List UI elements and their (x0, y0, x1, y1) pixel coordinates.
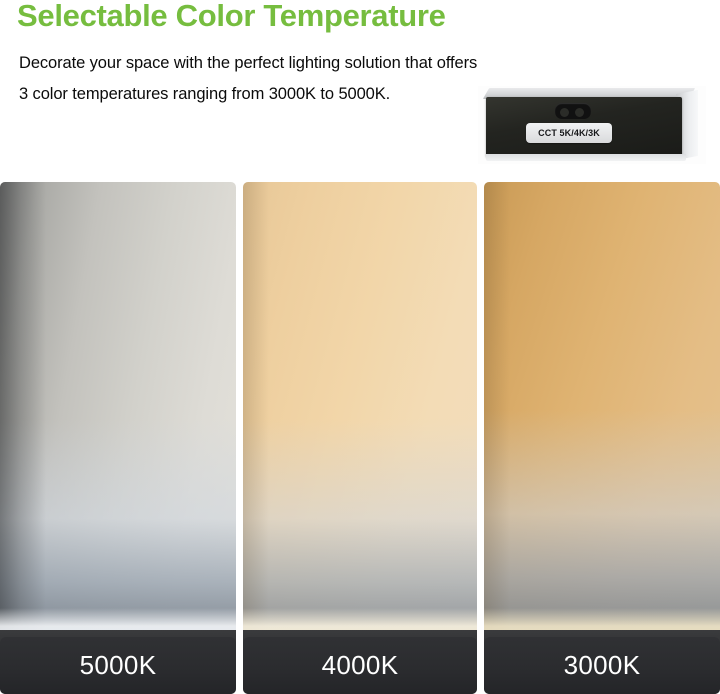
wall-corner-shadow (484, 182, 510, 637)
panel-divider (477, 182, 484, 694)
page-title: Selectable Color Temperature (17, 0, 446, 34)
label-bar-4000k: 4000K (243, 637, 477, 694)
color-temperature-comparison (0, 182, 720, 694)
cct-selector-switch-photo: CCT 5K/4K/3K (478, 86, 706, 164)
temperature-label-bars: 5000K 4000K 3000K (0, 637, 720, 694)
wall-corner-shadow (0, 182, 46, 637)
product-infographic: Selectable Color Temperature Decorate yo… (0, 0, 720, 694)
panel-4000k (243, 182, 477, 694)
wall-corner-shadow (243, 182, 269, 637)
driver-bottom-lip (486, 154, 686, 161)
panel-3000k (484, 182, 720, 694)
description-text: Decorate your space with the perfect lig… (19, 48, 489, 110)
panel-5000k (0, 182, 236, 694)
cct-sticker: CCT 5K/4K/3K (526, 123, 612, 143)
label-3000k: 3000K (564, 650, 641, 681)
cct-sticker-label: CCT 5K/4K/3K (538, 128, 600, 138)
header-section: Selectable Color Temperature Decorate yo… (0, 0, 720, 182)
label-bar-3000k: 3000K (484, 637, 720, 694)
panel-divider (236, 182, 243, 694)
label-bar-5000k: 5000K (0, 637, 236, 694)
label-4000k: 4000K (322, 650, 399, 681)
wall-3000k (484, 182, 720, 637)
driver-knockout-icon (555, 103, 591, 119)
wall-4000k (243, 182, 477, 637)
label-5000k: 5000K (80, 650, 157, 681)
